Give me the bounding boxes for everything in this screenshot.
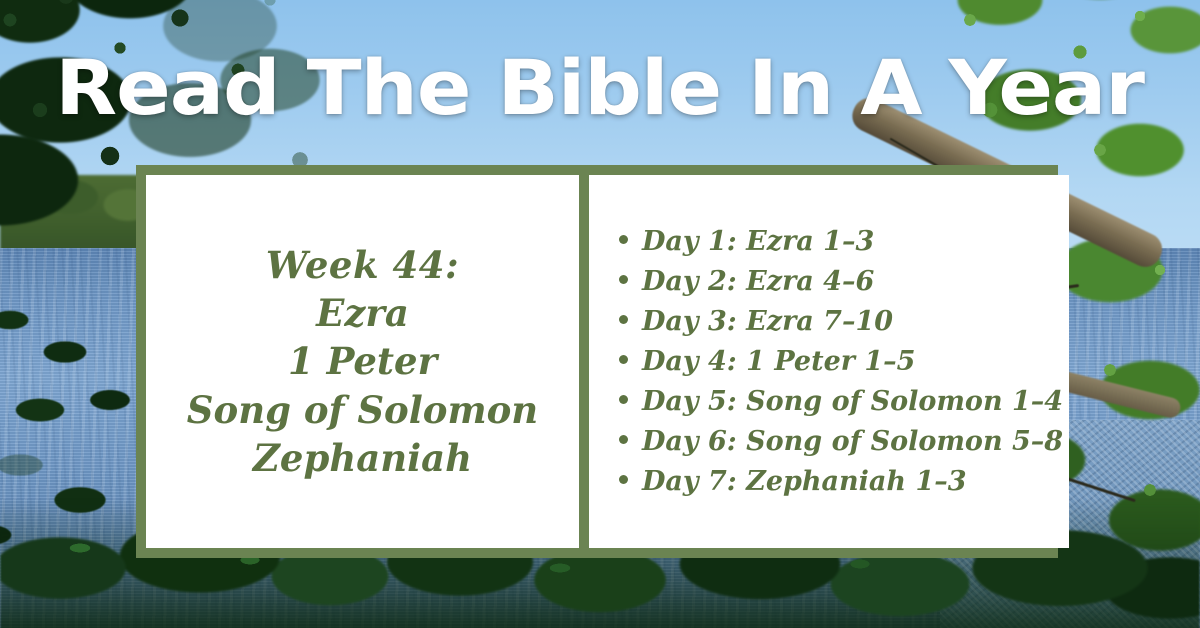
day-reading-7: Day 7: Zephaniah 1–3 (642, 468, 967, 495)
week-summary-panel: Week 44: Ezra 1 Peter Song of Solomon Ze… (146, 175, 579, 548)
day-reading-4: Day 4: 1 Peter 1–5 (642, 348, 915, 375)
list-item: Day 3: Ezra 7–10 (605, 302, 1063, 342)
list-item: Day 4: 1 Peter 1–5 (605, 342, 1063, 382)
book-name-4: Zephaniah (187, 434, 538, 482)
day-reading-3: Day 3: Ezra 7–10 (642, 308, 893, 335)
book-name-1: Ezra (187, 289, 538, 337)
day-reading-6: Day 6: Song of Solomon 5–8 (642, 428, 1063, 455)
list-item: Day 7: Zephaniah 1–3 (605, 462, 1063, 502)
bullet-dot-icon (619, 355, 628, 364)
reading-plan-card: Week 44: Ezra 1 Peter Song of Solomon Ze… (136, 165, 1058, 558)
list-item: Day 2: Ezra 4–6 (605, 262, 1063, 302)
bullet-dot-icon (619, 275, 628, 284)
list-item: Day 6: Song of Solomon 5–8 (605, 422, 1063, 462)
bullet-dot-icon (619, 475, 628, 484)
daily-reading-list: Day 1: Ezra 1–3 Day 2: Ezra 4–6 Day 3: E… (605, 222, 1063, 502)
day-reading-5: Day 5: Song of Solomon 1–4 (642, 388, 1063, 415)
list-item: Day 1: Ezra 1–3 (605, 222, 1063, 262)
bullet-dot-icon (619, 435, 628, 444)
bullet-dot-icon (619, 315, 628, 324)
day-reading-2: Day 2: Ezra 4–6 (642, 268, 874, 295)
book-name-3: Song of Solomon (187, 386, 538, 434)
week-summary-text: Week 44: Ezra 1 Peter Song of Solomon Ze… (187, 241, 538, 481)
week-label: Week 44: (187, 241, 538, 289)
day-reading-1: Day 1: Ezra 1–3 (642, 228, 874, 255)
book-name-2: 1 Peter (187, 337, 538, 385)
daily-schedule-panel: Day 1: Ezra 1–3 Day 2: Ezra 4–6 Day 3: E… (589, 175, 1069, 548)
page-title: Read The Bible In A Year (0, 50, 1200, 126)
bullet-dot-icon (619, 395, 628, 404)
bullet-dot-icon (619, 235, 628, 244)
page-title-text: Read The Bible In A Year (56, 50, 1145, 126)
list-item: Day 5: Song of Solomon 1–4 (605, 382, 1063, 422)
